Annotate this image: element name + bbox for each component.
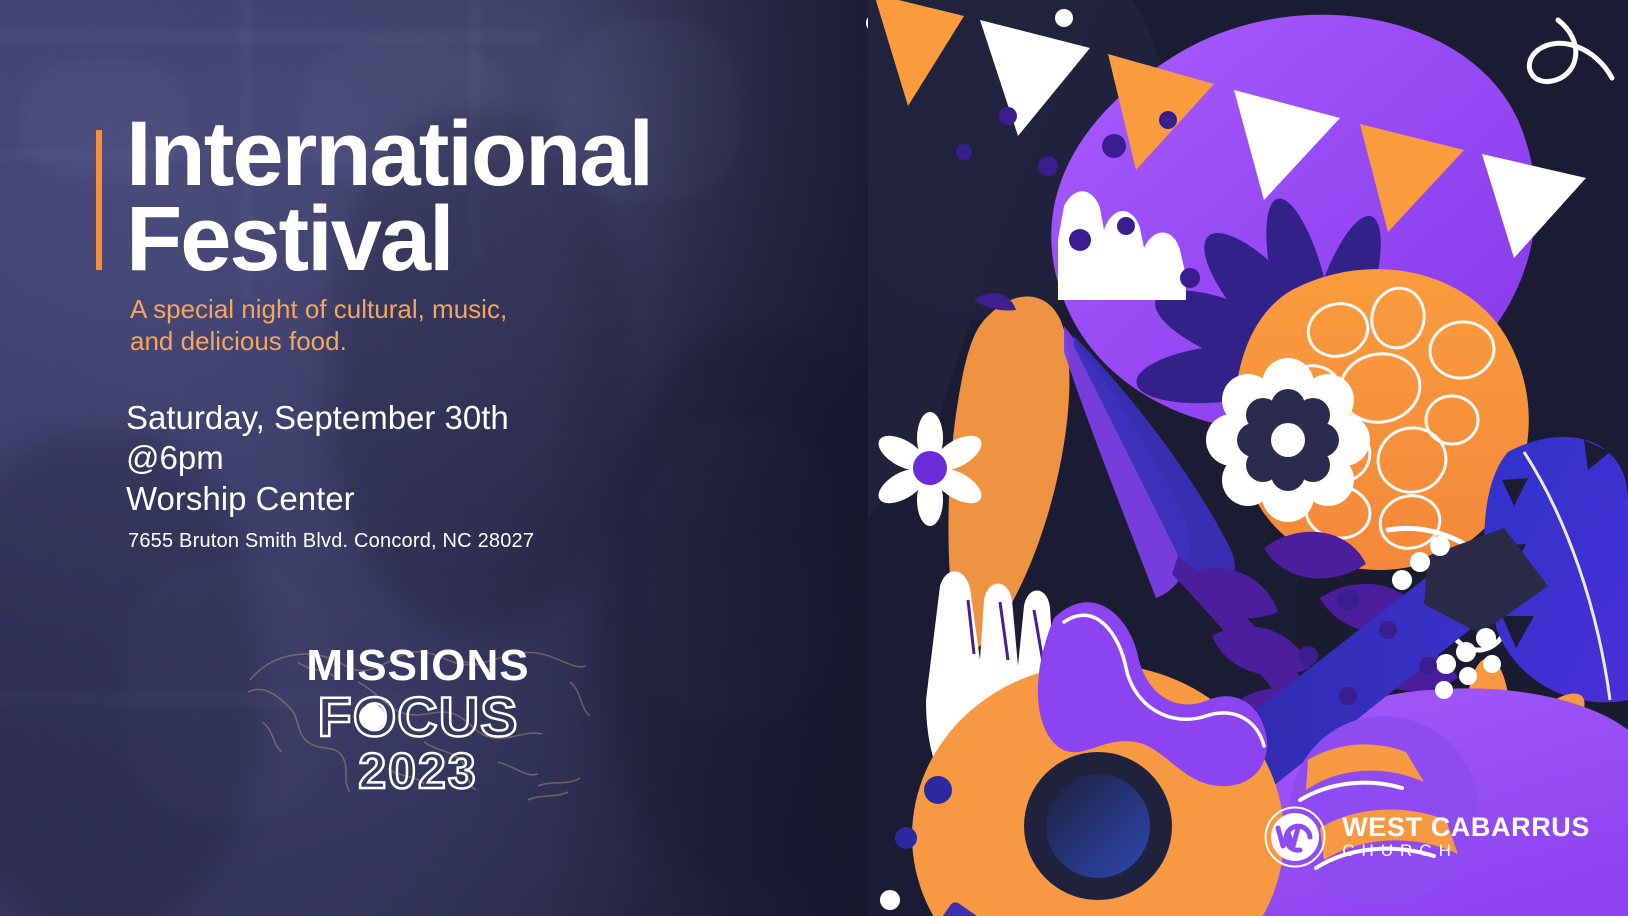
church-name: WEST CABARRUS bbox=[1342, 813, 1590, 841]
event-subtitle: A special night of cultural, music, and … bbox=[130, 294, 690, 357]
focus-o-dot-icon bbox=[359, 704, 385, 730]
missions-year: 2023 bbox=[358, 746, 477, 796]
event-venue: Worship Center bbox=[126, 479, 726, 519]
orange-accent-bar bbox=[96, 130, 102, 270]
page-title: International Festival bbox=[126, 112, 806, 281]
focus-word: FOCUS bbox=[318, 689, 519, 745]
wc-monogram-icon bbox=[1264, 806, 1326, 868]
missions-focus-logo: MISSIONS FOCUS 2023 bbox=[238, 622, 598, 817]
title-line-2: Festival bbox=[126, 197, 806, 282]
poster-canvas: International Festival A special night o… bbox=[0, 0, 1628, 916]
missions-focus-wordmark: MISSIONS FOCUS 2023 bbox=[238, 622, 598, 817]
focus-word-text: FOCUS bbox=[318, 685, 519, 748]
event-date: Saturday, September 30th bbox=[126, 398, 726, 438]
church-wordmark: WEST CABARRUS CHURCH bbox=[1342, 813, 1590, 862]
event-address: 7655 Bruton Smith Blvd. Concord, NC 2802… bbox=[128, 530, 534, 553]
festival-illustration bbox=[868, 0, 1628, 916]
missions-word: MISSIONS bbox=[306, 644, 529, 688]
subtitle-line-1: A special night of cultural, music, bbox=[130, 294, 690, 326]
event-details: Saturday, September 30th @6pm Worship Ce… bbox=[126, 398, 726, 519]
subtitle-line-2: and delicious food. bbox=[130, 326, 690, 358]
title-line-1: International bbox=[126, 112, 806, 197]
church-subtitle: CHURCH bbox=[1342, 841, 1590, 861]
white-scalloped-flower bbox=[1206, 358, 1370, 522]
event-time: @6pm bbox=[126, 438, 726, 478]
west-cabarrus-church-logo: WEST CABARRUS CHURCH bbox=[1264, 806, 1590, 868]
